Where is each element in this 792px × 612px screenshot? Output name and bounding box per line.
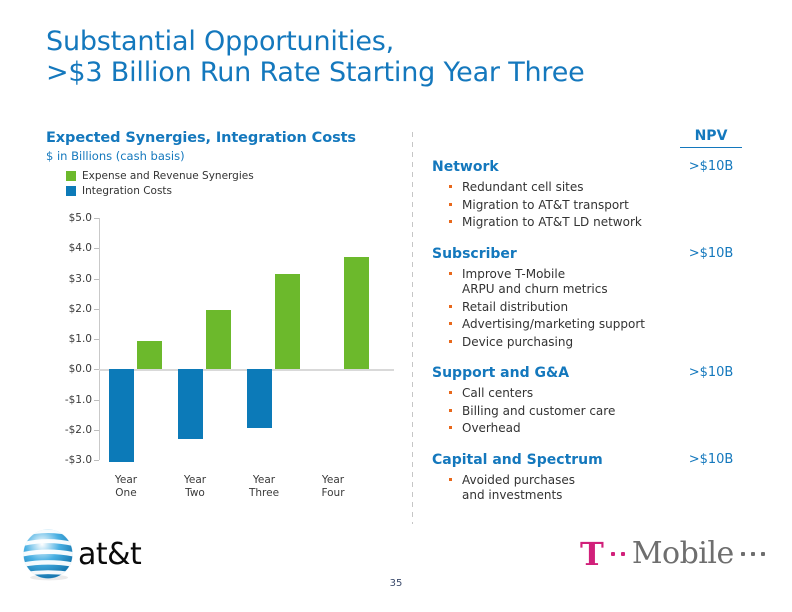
- y-axis-tick-mark: [94, 218, 99, 219]
- section-title: Capital and Spectrum: [432, 451, 603, 469]
- y-axis-tick-label: -$2.0: [65, 424, 92, 436]
- section-bullet-list: Avoided purchasesand investments: [432, 473, 742, 504]
- chart-bar: [275, 274, 300, 369]
- att-logo: at&t: [20, 524, 200, 586]
- x-axis-label-line: Two: [155, 487, 235, 500]
- y-axis-tick-label: -$1.0: [65, 394, 92, 406]
- y-axis-tick-mark: [94, 400, 99, 401]
- synergies-chart-panel: Expected Synergies, Integration Costs $ …: [46, 130, 396, 530]
- bullet-item: Call centers: [462, 386, 742, 402]
- x-axis-label-line: Four: [293, 487, 373, 500]
- tmobile-dots-left: [608, 552, 628, 556]
- npv-section: Support and G&A>$10BCall centersBilling …: [432, 364, 742, 437]
- x-axis-label-line: Year: [224, 474, 304, 487]
- chart-title: Expected Synergies, Integration Costs: [46, 130, 396, 147]
- y-axis-tick-label: $3.0: [69, 273, 92, 285]
- bullet-item-line2: and investments: [462, 488, 742, 504]
- y-axis-tick-mark: [94, 248, 99, 249]
- section-title: Network: [432, 158, 499, 176]
- y-axis-tick-mark: [94, 369, 99, 370]
- y-axis-tick-label: $0.0: [69, 363, 92, 375]
- bar-group: [172, 218, 241, 460]
- bullet-dot-icon: [449, 185, 452, 188]
- section-header: Network>$10B: [432, 158, 742, 178]
- section-bullet-list: Improve T-MobileARPU and churn metricsRe…: [432, 267, 742, 351]
- bullet-item: Redundant cell sites: [462, 180, 742, 196]
- legend-item: Integration Costs: [66, 184, 396, 197]
- bullet-dot-icon: [449, 322, 452, 325]
- tmobile-t-letter: T: [580, 538, 604, 570]
- legend-label: Expense and Revenue Synergies: [82, 170, 254, 182]
- section-title: Subscriber: [432, 245, 517, 263]
- x-axis-label-line: Year: [155, 474, 235, 487]
- tmobile-dots-right: [738, 552, 768, 556]
- chart-bar: [178, 369, 203, 439]
- y-axis-tick-label: $1.0: [69, 333, 92, 345]
- section-header: Support and G&A>$10B: [432, 364, 742, 384]
- bullet-dot-icon: [449, 220, 452, 223]
- legend-swatch: [66, 186, 76, 196]
- title-line-2: >$3 Billion Run Rate Starting Year Three: [46, 57, 746, 88]
- bullet-item: Avoided purchasesand investments: [462, 473, 742, 504]
- bullet-dot-icon: [449, 203, 452, 206]
- npv-column-header: NPV: [680, 128, 742, 148]
- bullet-dot-icon: [449, 340, 452, 343]
- section-npv-value: >$10B: [680, 451, 742, 469]
- legend-item: Expense and Revenue Synergies: [66, 169, 396, 182]
- section-title: Support and G&A: [432, 364, 569, 382]
- bullet-dot-icon: [449, 426, 452, 429]
- bullet-item: Retail distribution: [462, 300, 742, 316]
- bar-group: [310, 218, 379, 460]
- bar-group: [241, 218, 310, 460]
- bullet-item: Overhead: [462, 421, 742, 437]
- chart-plot-area: $5.0$4.0$3.0$2.0$1.0$0.0-$1.0-$2.0-$3.0 …: [46, 210, 386, 490]
- chart-subtitle: $ in Billions (cash basis): [46, 149, 396, 164]
- y-axis-tick-label: $4.0: [69, 242, 92, 254]
- bullet-item: Billing and customer care: [462, 404, 742, 420]
- y-axis-tick-mark: [94, 460, 99, 461]
- bullet-dot-icon: [449, 409, 452, 412]
- att-globe-icon: [20, 526, 76, 582]
- x-axis-label-line: Three: [224, 487, 304, 500]
- x-axis-label: YearTwo: [155, 474, 235, 500]
- chart-plot-inner: $5.0$4.0$3.0$2.0$1.0$0.0-$1.0-$2.0-$3.0: [99, 218, 386, 460]
- y-axis-tick-label: $2.0: [69, 303, 92, 315]
- chart-bar: [247, 369, 272, 428]
- bullet-dot-icon: [449, 478, 452, 481]
- bullet-item: Migration to AT&T LD network: [462, 215, 742, 231]
- tmobile-logo: T Mobile: [580, 534, 760, 574]
- bullet-item: Improve T-MobileARPU and churn metrics: [462, 267, 742, 298]
- section-npv-value: >$10B: [680, 364, 742, 382]
- x-axis-label-line: Year: [293, 474, 373, 487]
- x-axis-label-line: One: [86, 487, 166, 500]
- y-axis-tick-mark: [94, 430, 99, 431]
- bullet-item: Advertising/marketing support: [462, 317, 742, 333]
- page-title: Substantial Opportunities, >$3 Billion R…: [46, 26, 746, 88]
- section-bullet-list: Call centersBilling and customer careOve…: [432, 386, 742, 437]
- section-header: Capital and Spectrum>$10B: [432, 451, 742, 471]
- x-axis-label: YearOne: [86, 474, 166, 500]
- sections-list: Network>$10BRedundant cell sitesMigratio…: [432, 128, 742, 504]
- y-axis-tick-mark: [94, 279, 99, 280]
- legend-label: Integration Costs: [82, 185, 172, 197]
- x-axis-label-line: Year: [86, 474, 166, 487]
- section-bullet-list: Redundant cell sitesMigration to AT&T tr…: [432, 180, 742, 231]
- npv-section: Network>$10BRedundant cell sitesMigratio…: [432, 158, 742, 231]
- column-divider: [412, 132, 413, 524]
- title-line-1: Substantial Opportunities,: [46, 26, 746, 57]
- x-axis-label: YearFour: [293, 474, 373, 500]
- bullet-item-line2: ARPU and churn metrics: [462, 282, 742, 298]
- chart-bar: [137, 341, 162, 370]
- legend-swatch: [66, 171, 76, 181]
- x-axis-label: YearThree: [224, 474, 304, 500]
- page-number: 35: [0, 578, 792, 589]
- npv-section: Capital and Spectrum>$10BAvoided purchas…: [432, 451, 742, 504]
- bullet-dot-icon: [449, 272, 452, 275]
- y-axis-tick-mark: [94, 309, 99, 310]
- bullet-item: Migration to AT&T transport: [462, 198, 742, 214]
- y-axis-line: [99, 218, 100, 460]
- npv-section: Subscriber>$10BImprove T-MobileARPU and …: [432, 245, 742, 351]
- chart-bar: [344, 257, 369, 369]
- slide: Substantial Opportunities, >$3 Billion R…: [0, 0, 792, 612]
- section-header: Subscriber>$10B: [432, 245, 742, 265]
- bullet-item: Device purchasing: [462, 335, 742, 351]
- section-npv-value: >$10B: [680, 158, 742, 176]
- section-npv-value: >$10B: [680, 245, 742, 263]
- bar-group: [103, 218, 172, 460]
- att-wordmark: at&t: [78, 538, 141, 572]
- chart-bar: [109, 369, 134, 461]
- npv-sections-panel: NPV Network>$10BRedundant cell sitesMigr…: [432, 128, 742, 506]
- bullet-dot-icon: [449, 305, 452, 308]
- y-axis-tick-label: -$3.0: [65, 454, 92, 466]
- chart-legend: Expense and Revenue SynergiesIntegration…: [66, 169, 396, 197]
- tmobile-wordmark: Mobile: [632, 538, 734, 570]
- y-axis-tick-label: $5.0: [69, 212, 92, 224]
- chart-bar: [206, 310, 231, 369]
- bullet-dot-icon: [449, 391, 452, 394]
- y-axis-tick-mark: [94, 339, 99, 340]
